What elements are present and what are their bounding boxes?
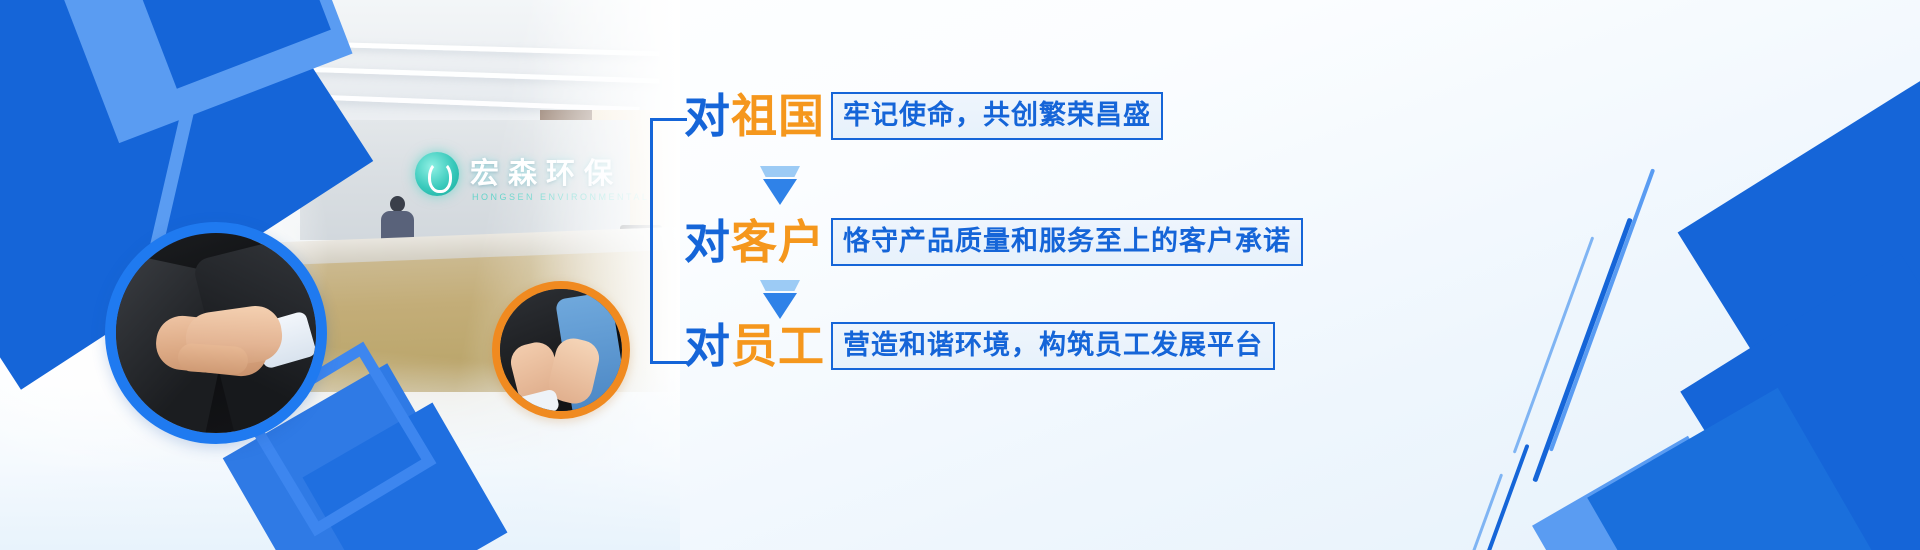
applause-photo-circle — [492, 281, 630, 419]
arrow-down-icon — [760, 280, 800, 319]
value-subject: 员工 — [731, 320, 825, 372]
value-prefix: 对 — [684, 216, 731, 268]
value-subject: 祖国 — [731, 90, 825, 142]
value-statement-customer: 恪守产品质量和服务至上的客户承诺 — [831, 218, 1303, 266]
company-logo-subtext: HONGSEN ENVIRONMENTAL — [472, 192, 649, 202]
company-logo-text: 宏森环保 — [470, 150, 622, 192]
values-content: 对祖国 牢记使命，共创繁荣昌盛 对客户 恪守产品质量和服务至上的客户承诺 对员工… — [650, 0, 1410, 550]
value-row-employee: 对员工 营造和谐环境，构筑员工发展平台 — [684, 322, 1275, 370]
value-prefix: 对 — [684, 90, 731, 142]
value-lead-customer: 对客户 — [684, 219, 825, 265]
value-row-customer: 对客户 恪守产品质量和服务至上的客户承诺 — [684, 218, 1303, 266]
handshake-photo-circle — [105, 222, 327, 444]
value-statement-country: 牢记使命，共创繁荣昌盛 — [831, 92, 1163, 140]
decor-line-5 — [1456, 473, 1503, 550]
value-subject: 客户 — [731, 216, 825, 268]
arrow-down-icon — [760, 166, 800, 205]
value-row-country: 对祖国 牢记使命，共创繁荣昌盛 — [684, 92, 1163, 140]
value-lead-country: 对祖国 — [684, 93, 825, 139]
value-prefix: 对 — [684, 320, 731, 372]
leaf-globe-icon — [415, 152, 459, 196]
value-statement-employee: 营造和谐环境，构筑员工发展平台 — [831, 322, 1275, 370]
value-lead-employee: 对员工 — [684, 323, 825, 369]
bracket-connector — [650, 118, 687, 364]
left-photo-collage: 宏森环保 HONGSEN ENVIRONMENTAL — [0, 0, 680, 550]
company-values-banner: 宏森环保 HONGSEN ENVIRONMENTAL — [0, 0, 1920, 550]
decor-line-4 — [1474, 444, 1529, 550]
